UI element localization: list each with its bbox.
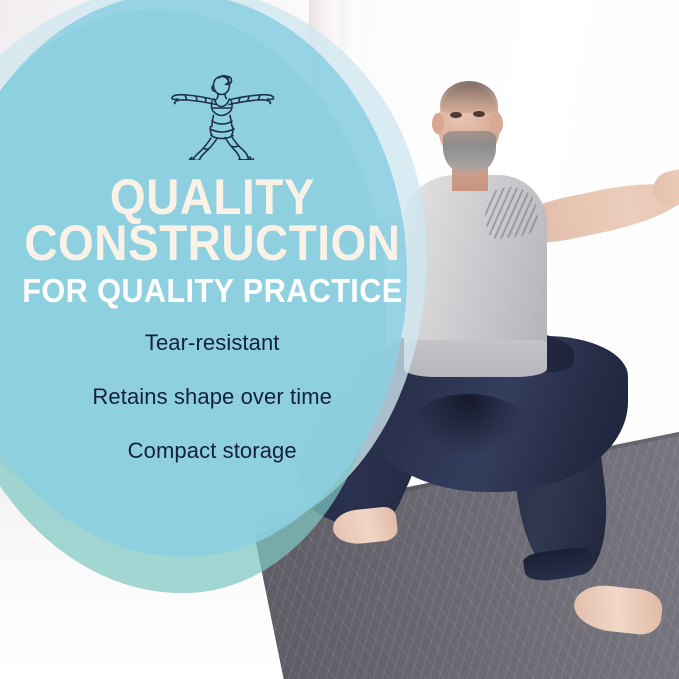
subheadline: FOR QUALITY PRACTICE [22, 272, 402, 310]
headline-line-1: QUALITY [24, 174, 400, 220]
hair [440, 81, 498, 112]
right-foot [572, 583, 664, 637]
feature-item-retains-shape: Retains shape over time [92, 384, 332, 410]
feature-item-compact-storage: Compact storage [128, 438, 297, 464]
tshirt-hem [404, 340, 547, 377]
banner-content: QUALITY CONSTRUCTION FOR QUALITY PRACTIC… [0, 0, 424, 530]
feature-list: Tear-resistant Retains shape over time C… [0, 330, 424, 464]
right-ear [491, 113, 503, 135]
page-title: QUALITY CONSTRUCTION [8, 174, 417, 266]
left-eye [450, 112, 462, 118]
feature-item-tear-resistant: Tear-resistant [145, 330, 280, 356]
yoga-warrior-pose-icon [150, 65, 275, 160]
product-feature-banner: QUALITY CONSTRUCTION FOR QUALITY PRACTIC… [0, 0, 679, 679]
pants-shadow [411, 394, 526, 455]
headline-line-2: CONSTRUCTION [24, 220, 400, 266]
